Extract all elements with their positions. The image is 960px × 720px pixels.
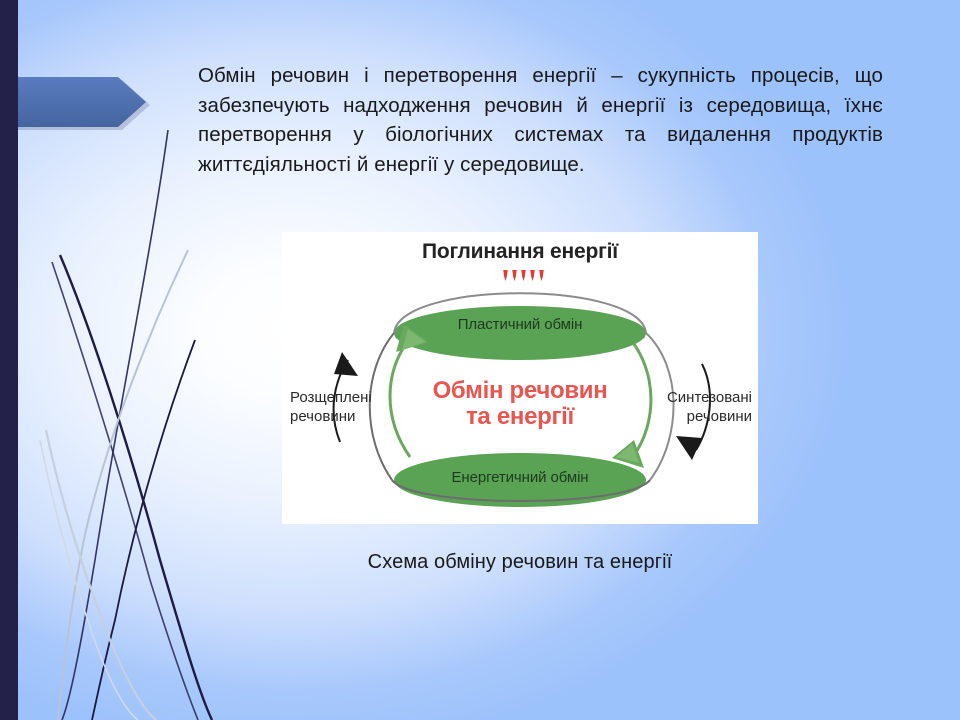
left-accent-bar xyxy=(0,0,18,720)
image-caption: Схема обміну речовин та енергії xyxy=(198,551,842,574)
energy-metabolism-label: Енергетичний обмін xyxy=(282,469,758,486)
decomposed-substances-line2: речовини xyxy=(290,407,408,426)
center-title-line2: та енергії xyxy=(402,404,638,430)
synthesized-substances-line2: речовини xyxy=(622,407,752,426)
slide-canvas: Обмін речовин і перетворення енергії – с… xyxy=(0,0,960,720)
plastic-metabolism-label: Пластичний обмін xyxy=(282,316,758,333)
page-title: Обмін речовин і перетворення енергії – с… xyxy=(198,61,883,179)
banner-arrow-decoration xyxy=(0,77,146,127)
synthesized-substances-label: Синтезовані речовини xyxy=(622,388,752,426)
diagram-title: Поглинання енергії xyxy=(282,240,758,264)
center-title-line1: Обмін речовин xyxy=(402,378,638,404)
decomposed-substances-line1: Розщеплені xyxy=(290,388,408,407)
decomposed-substances-label: Розщеплені речовини xyxy=(290,388,408,426)
center-title: Обмін речовин та енергії xyxy=(402,378,638,430)
synthesized-substances-line1: Синтезовані xyxy=(622,388,752,407)
diagram-image: Поглинання енергії Пластичний обмін Енер… xyxy=(282,232,758,524)
